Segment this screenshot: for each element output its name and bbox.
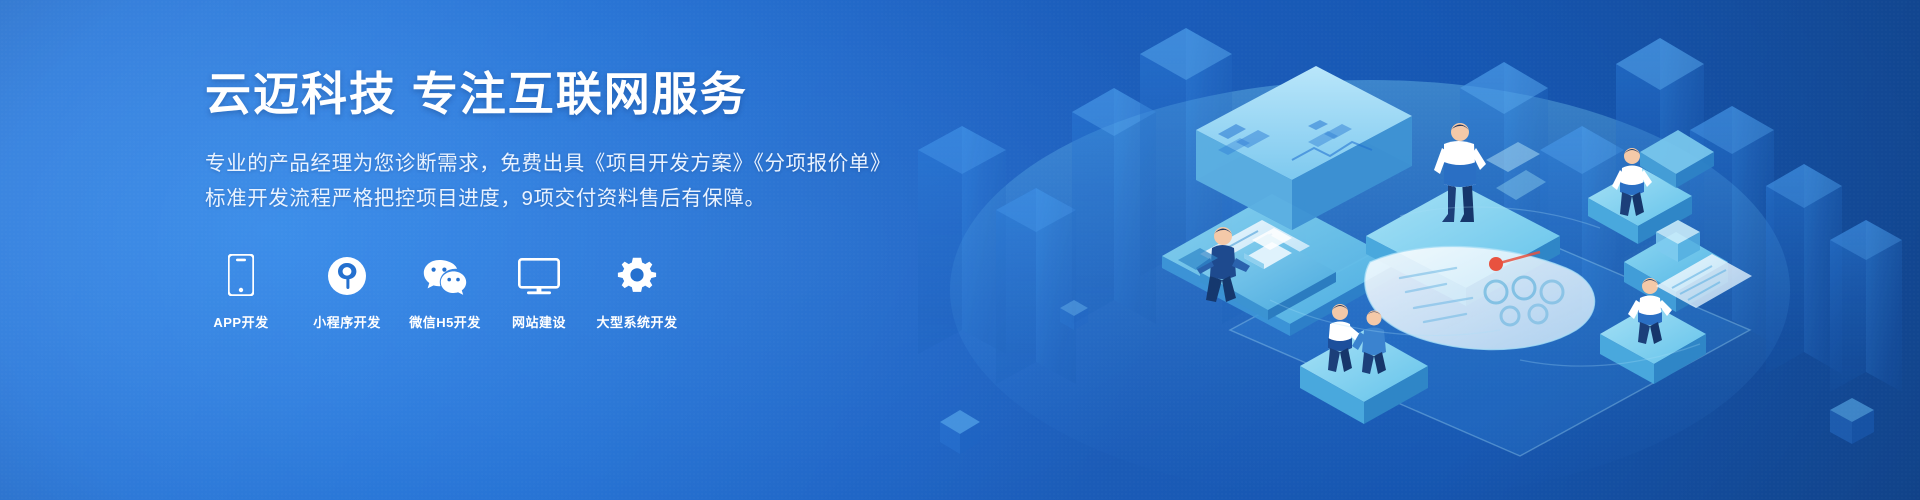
service-item-system[interactable]: 大型系统开发 [601,250,673,331]
service-list: APP开发 小程序开发 [205,250,905,331]
wechat-icon [422,250,468,296]
banner-subtitle: 专业的产品经理为您诊断需求，免费出具《项目开发方案》《分项报价单》 标准开发流程… [205,146,905,217]
service-item-app[interactable]: APP开发 [205,250,277,331]
mini-program-icon [327,250,367,296]
service-label-system: 大型系统开发 [597,312,678,331]
banner-title: 云迈科技 专注互联网服务 [205,66,905,124]
service-label-app: APP开发 [213,312,268,331]
banner-content: 云迈科技 专注互联网服务 专业的产品经理为您诊断需求，免费出具《项目开发方案》《… [205,66,905,331]
hero-banner: 云迈科技 专注互联网服务 专业的产品经理为您诊断需求，免费出具《项目开发方案》《… [0,0,1920,500]
monitor-icon [518,250,560,296]
service-label-website: 网站建设 [512,312,566,331]
service-label-miniprogram: 小程序开发 [313,312,381,331]
gear-icon [617,250,657,296]
service-item-website[interactable]: 网站建设 [503,250,575,331]
subtitle-line-1: 专业的产品经理为您诊断需求，免费出具《项目开发方案》《分项报价单》 [205,146,905,181]
isometric-illustration [900,0,1920,500]
service-label-wechat: 微信H5开发 [409,312,481,331]
mobile-phone-icon [228,250,254,296]
service-item-miniprogram[interactable]: 小程序开发 [311,250,383,331]
service-item-wechat[interactable]: 微信H5开发 [409,250,481,331]
subtitle-line-2: 标准开发流程严格把控项目进度，9项交付资料售后有保障。 [205,181,905,216]
